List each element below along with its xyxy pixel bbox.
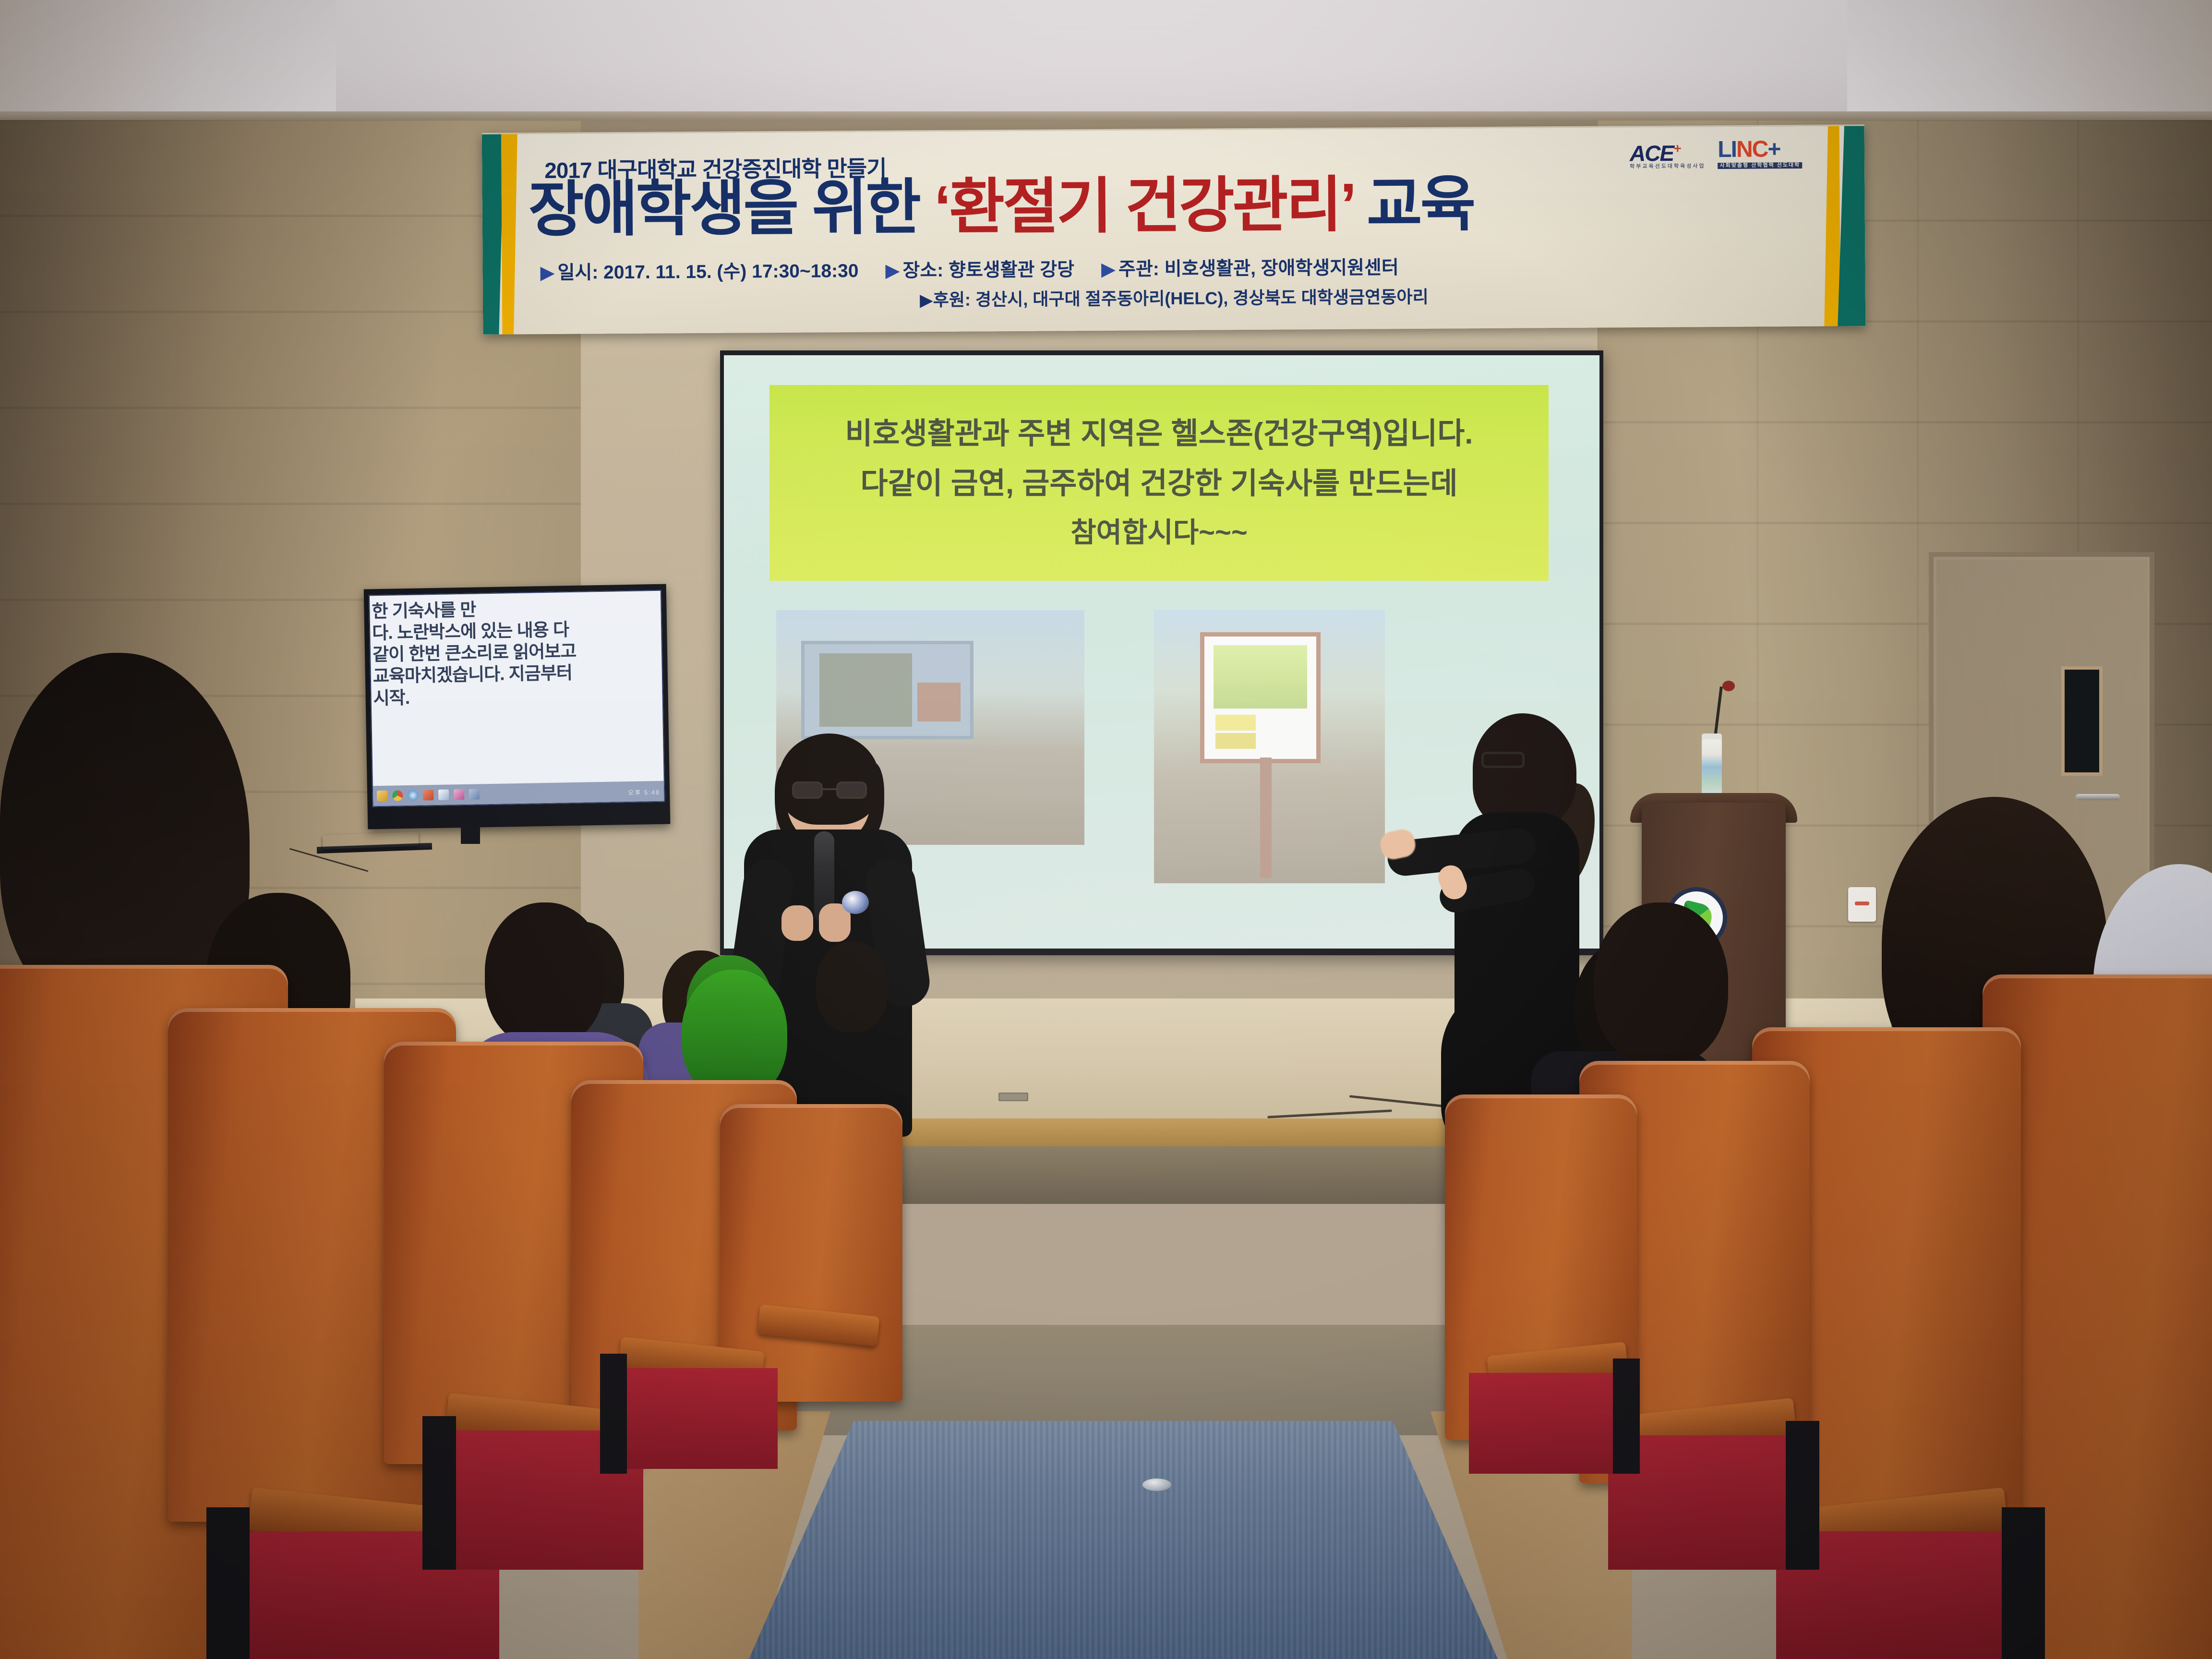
wall-light-switch[interactable] xyxy=(1848,887,1876,922)
windows-taskbar[interactable]: 오후 5:48 xyxy=(373,781,664,806)
banner-title-part1: 장애학생을 위한 xyxy=(528,173,934,243)
seat-side-panel-left-3 xyxy=(600,1354,627,1474)
banner-logo-group: ACE+학부교육선도대학육성사업 LINC+사회맞춤형 산학협력 선도대학 xyxy=(1630,138,1803,169)
ceiling-bevel-left xyxy=(0,0,336,120)
ceiling-bevel-right xyxy=(1847,0,2212,120)
wall-monitor: 한 기숙사를 만 다. 노란박스에 있는 내용 다 같이 한번 큰소리로 읽어보… xyxy=(364,584,671,829)
app-icon[interactable] xyxy=(423,790,433,800)
slide-yellow-textbox: 비호생활관과 주변 지역은 헬스존(건강구역)입니다. 다같이 금연, 금주하여… xyxy=(769,385,1549,581)
banner-meta-row: ▶일시: 2017. 11. 15. (수) 17:30~18:30 ▶장소: … xyxy=(540,250,1798,285)
signboard-side-panel xyxy=(917,683,961,721)
folder-icon[interactable] xyxy=(377,791,387,801)
ace-logo-text: ACE xyxy=(1630,141,1673,166)
ace-plus-logo: ACE+학부교육선도대학육성사업 xyxy=(1630,142,1706,169)
signboard-green-panel xyxy=(1214,645,1307,709)
media-icon[interactable] xyxy=(469,789,480,799)
monitor-stand xyxy=(461,825,480,844)
seat-side-panel-left-2 xyxy=(422,1416,456,1570)
auditorium-photo: 2017 대구대학교 건강증진대학 만들기 장애학생을 위한 ‘환절기 건강관리… xyxy=(0,0,2212,1659)
ace-plus-mark: + xyxy=(1673,141,1681,156)
signboard-post xyxy=(1260,757,1272,878)
linc-letter-c: C xyxy=(1752,136,1768,162)
event-banner: 2017 대구대학교 건강증진대학 만들기 장애학생을 위한 ‘환절기 건강관리… xyxy=(482,124,1866,335)
app2-icon[interactable] xyxy=(454,789,464,800)
banner-meta-place: ▶장소: 향토생활관 강당 xyxy=(885,254,1074,282)
presenter-hair xyxy=(779,733,879,825)
seat-side-panel-left-1 xyxy=(206,1507,250,1659)
audience-head-far-3 xyxy=(816,941,888,1032)
banner-meta-place-text: 장소: 향토생활관 강당 xyxy=(902,259,1074,281)
linc-letter-i: I xyxy=(1731,137,1736,162)
banner-title-highlight: ‘환절기 건강관리’ xyxy=(934,171,1354,241)
glasses-lens-right xyxy=(836,781,867,799)
door-vision-window xyxy=(2061,666,2103,776)
presenter-hand-left xyxy=(781,905,813,941)
seat-side-panel-right-1 xyxy=(2002,1507,2045,1659)
chrome-icon[interactable] xyxy=(392,790,403,801)
glasses-lens-left xyxy=(792,781,823,799)
audience-head-left-3 xyxy=(485,902,605,1046)
slide-line-2: 다같이 금연, 금주하여 건강한 기숙사를 만드는데 xyxy=(786,468,1532,500)
aisle-carpet-texture xyxy=(749,1421,1498,1659)
glasses-bridge xyxy=(823,788,836,790)
slide-photo-signboard-right xyxy=(1154,610,1385,883)
seat-cushion-left-3[interactable] xyxy=(614,1368,778,1469)
door-handle[interactable] xyxy=(2076,794,2120,800)
bullet-icon: ▶ xyxy=(885,260,900,281)
banner-meta-date-text: 일시: 2017. 11. 15. (수) 17:30~18:30 xyxy=(557,261,858,283)
monitor-tray-clock: 오후 5:48 xyxy=(628,787,660,797)
floor-stud-fixture xyxy=(1142,1479,1171,1491)
seat-cushion-right-3[interactable] xyxy=(1469,1373,1627,1474)
bullet-icon: ▶ xyxy=(540,263,554,283)
signboard-inner-panel xyxy=(819,653,912,727)
ace-logo-subtext: 학부교육선도대학육성사업 xyxy=(1630,164,1706,169)
audience-head-right-2 xyxy=(1594,902,1728,1066)
linc-plus-logo: LINC+사회맞춤형 산학협력 선도대학 xyxy=(1718,138,1802,169)
banner-title: 장애학생을 위한 ‘환절기 건강관리’ 교육 xyxy=(528,170,1777,241)
banner-title-part2: 교육 xyxy=(1353,170,1474,239)
banner-support-text: ▶후원: 경산시, 대구대 절주동아리(HELC), 경상북도 대학생금연동아리 xyxy=(483,280,1865,314)
linc-letter-n: N xyxy=(1736,137,1752,162)
banner-meta-date: ▶일시: 2017. 11. 15. (수) 17:30~18:30 xyxy=(540,256,858,285)
monitor-screen: 한 기숙사를 만 다. 노란박스에 있는 내용 다 같이 한번 큰소리로 읽어보… xyxy=(369,590,665,807)
signboard-yellow-panel-2 xyxy=(1215,733,1256,749)
banner-meta-host: ▶주관: 비호생활관, 장애학생지원센터 xyxy=(1101,252,1399,281)
linc-letter-l: L xyxy=(1718,137,1731,162)
interpreter-eyeglasses-icon xyxy=(1481,752,1525,768)
mail-icon[interactable] xyxy=(438,790,449,800)
seat-side-panel-right-2 xyxy=(1786,1421,1819,1570)
interpreter-hair xyxy=(1473,713,1576,829)
stage-floor-outlet-2 xyxy=(998,1093,1028,1101)
water-bottle xyxy=(1702,739,1722,797)
slide-line-1: 비호생활관과 주변 지역은 헬스존(건강구역)입니다. xyxy=(786,418,1532,450)
switch-indicator-icon xyxy=(1855,902,1869,905)
ie-icon[interactable] xyxy=(408,790,418,801)
slide-line-3: 참여합시다~~~ xyxy=(786,517,1532,548)
podium-microphone-icon xyxy=(1722,681,1735,691)
bullet-icon: ▶ xyxy=(1101,259,1116,280)
signboard-yellow-panel-1 xyxy=(1215,715,1256,731)
monitor-script-text: 한 기숙사를 만 다. 노란박스에 있는 내용 다 같이 한번 큰소리로 읽어보… xyxy=(370,591,662,709)
seat-side-panel-right-3 xyxy=(1613,1358,1640,1474)
linc-logo-subtext: 사회맞춤형 산학협력 선도대학 xyxy=(1718,162,1803,169)
linc-plus-mark: + xyxy=(1767,136,1780,162)
signboard-graphic-right xyxy=(1200,632,1320,763)
presenter-eyeglasses-icon xyxy=(792,781,867,799)
presenter-brooch-icon xyxy=(842,891,869,914)
banner-meta-host-text: 주관: 비호생활관, 장애학생지원센터 xyxy=(1118,257,1399,280)
